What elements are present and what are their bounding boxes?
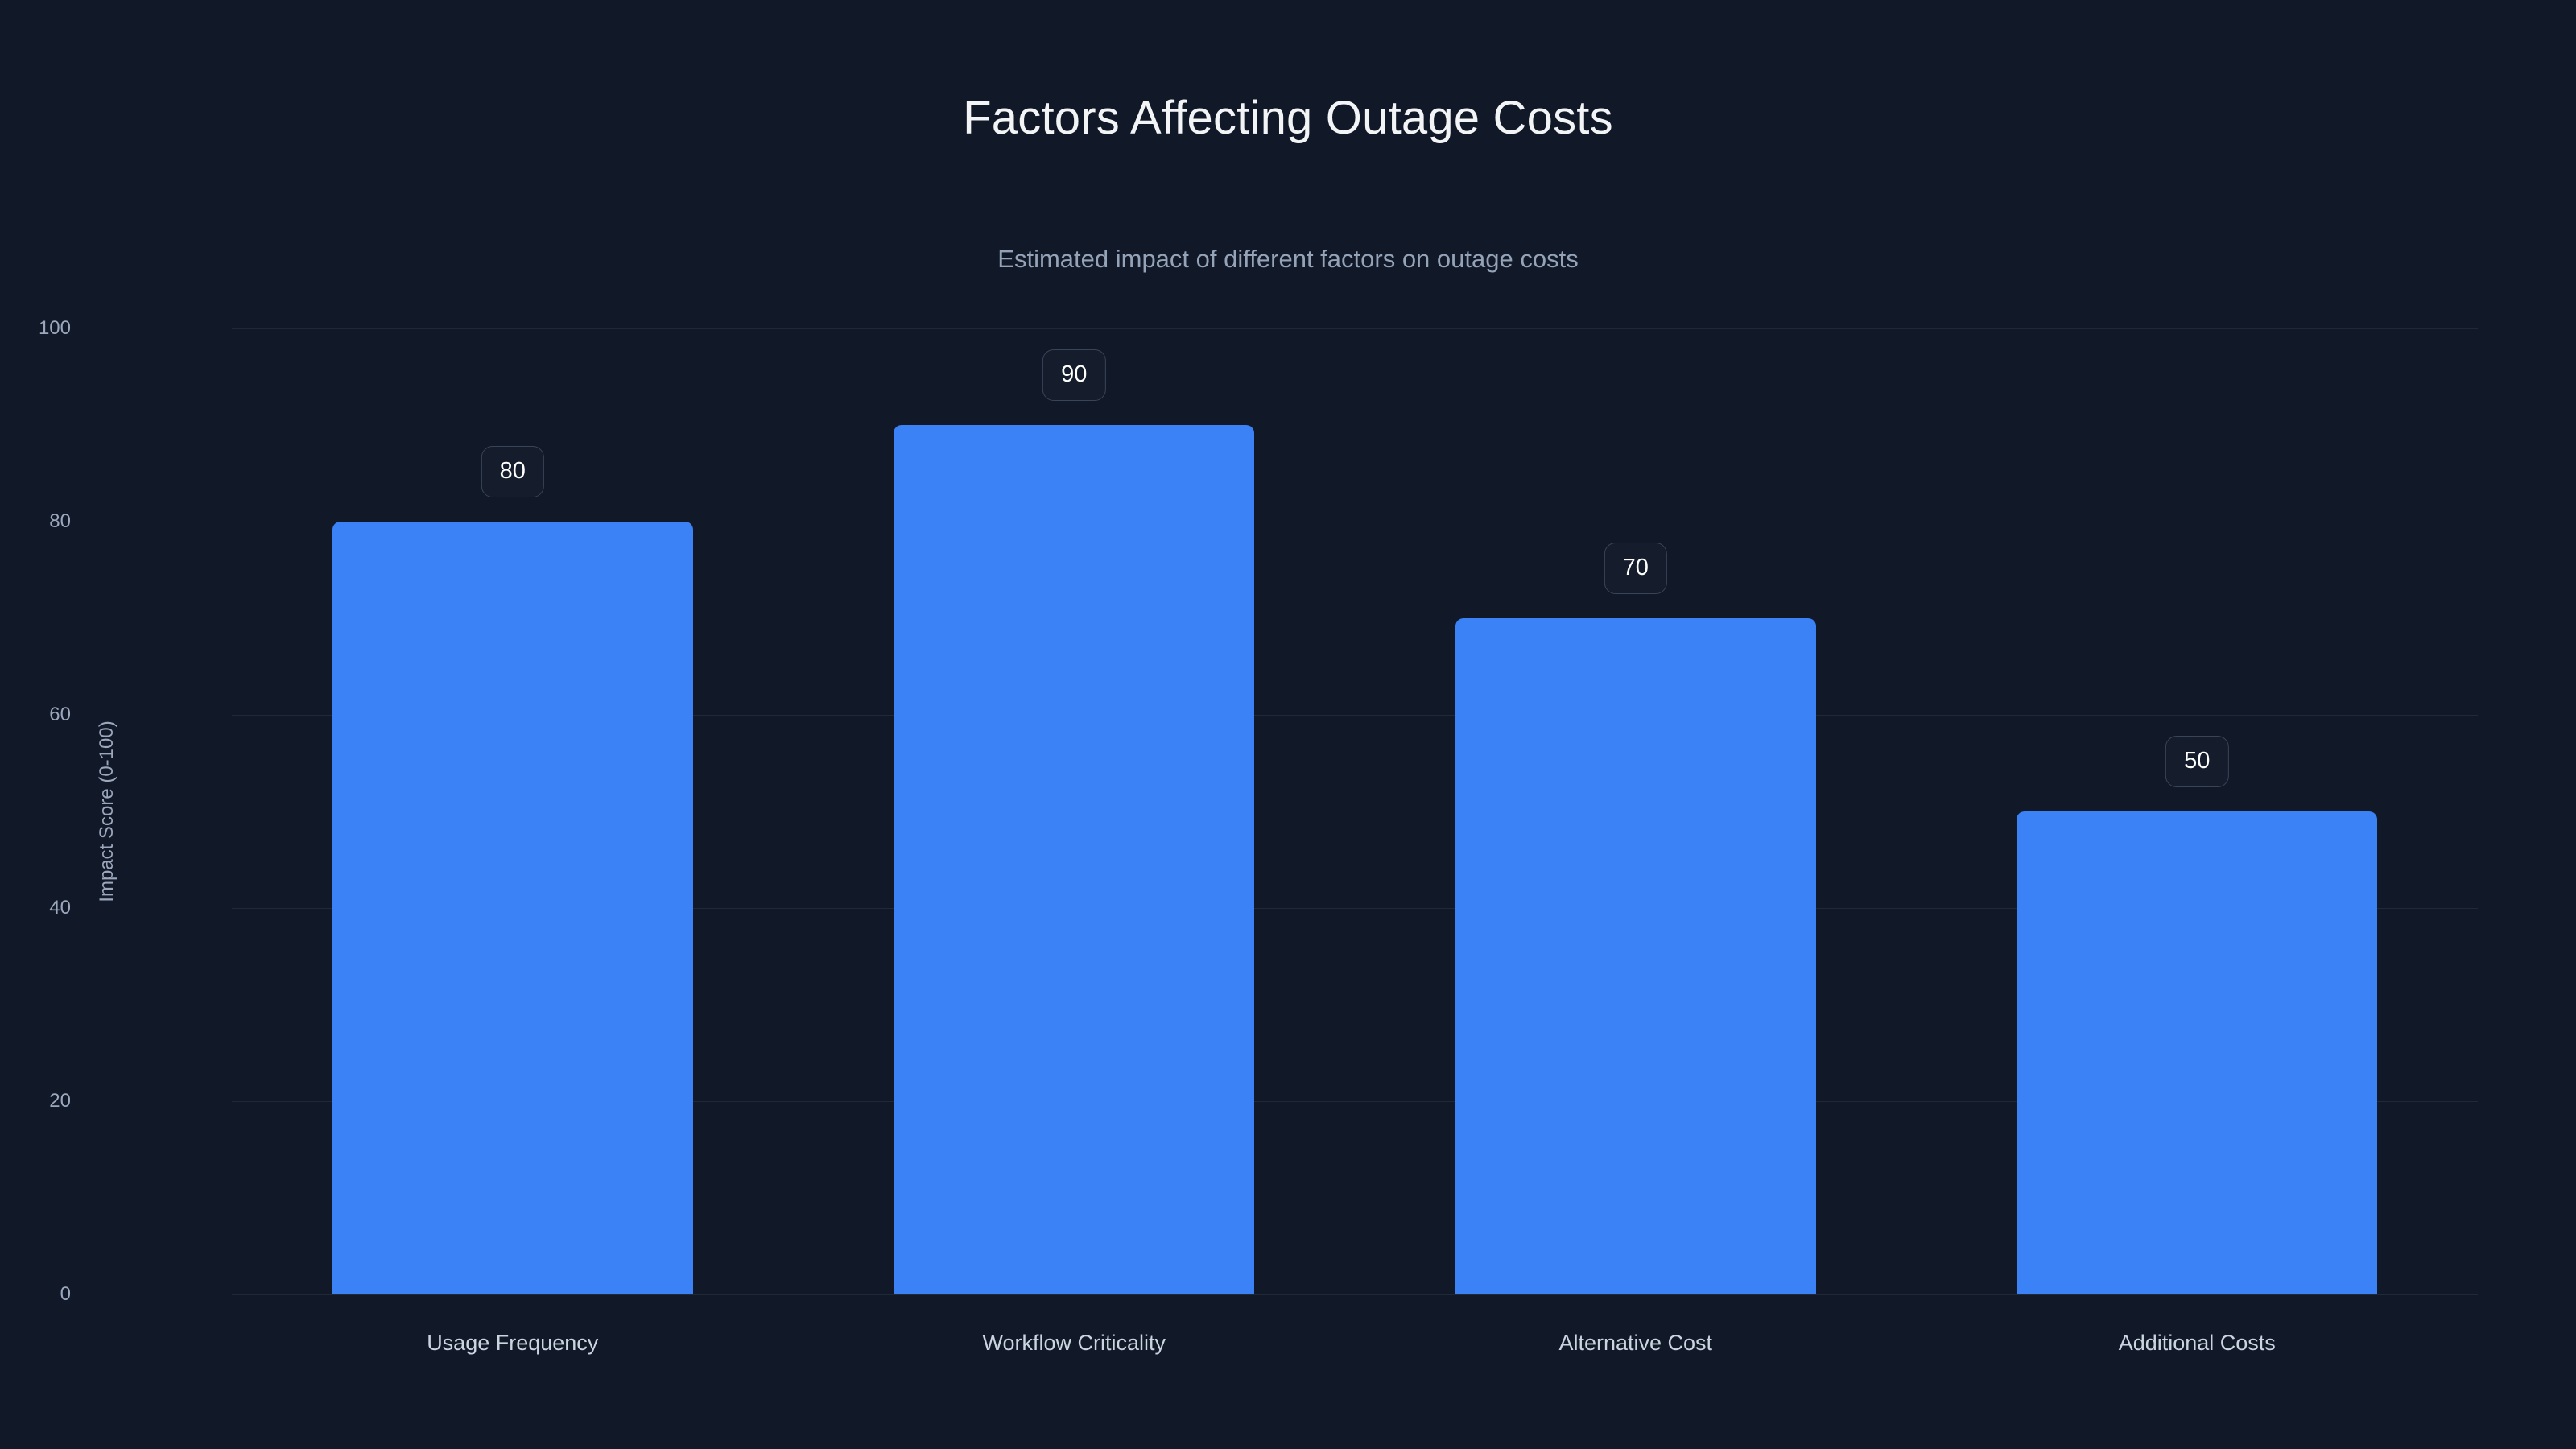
y-axis-tick-label: 20 xyxy=(0,1090,71,1113)
bar[interactable] xyxy=(894,425,1254,1294)
bar-group[interactable]: 50 xyxy=(2017,328,2377,1294)
gridline xyxy=(232,1294,2478,1295)
y-axis-tick-label: 100 xyxy=(0,317,71,340)
bar-group[interactable]: 70 xyxy=(1455,328,1816,1294)
x-axis-category-label: Usage Frequency xyxy=(231,1331,795,1356)
x-axis-category-label: Additional Costs xyxy=(1915,1331,2479,1356)
y-axis-tick-label: 0 xyxy=(0,1283,71,1306)
bar-group[interactable]: 90 xyxy=(894,328,1254,1294)
y-axis-tick-label: 60 xyxy=(0,704,71,726)
bar[interactable] xyxy=(2017,811,2377,1294)
x-axis-category-label: Workflow Criticality xyxy=(792,1331,1356,1356)
y-axis-tick-label: 40 xyxy=(0,897,71,919)
bar-value-badge: 90 xyxy=(1042,349,1105,401)
bar[interactable] xyxy=(332,522,693,1294)
bar-value-badge: 50 xyxy=(2165,736,2228,787)
bar-value-badge: 80 xyxy=(481,446,544,497)
x-axis-category-label: Alternative Cost xyxy=(1354,1331,1918,1356)
y-axis-title: Impact Score (0-100) xyxy=(96,720,118,902)
bar-chart-figure: Factors Affecting Outage Costs Estimated… xyxy=(0,0,2576,1449)
bar-value-badge: 70 xyxy=(1604,543,1667,594)
chart-subtitle: Estimated impact of different factors on… xyxy=(0,244,2576,274)
bars-layer: 80907050 xyxy=(232,328,2478,1294)
bar[interactable] xyxy=(1455,618,1816,1294)
chart-title: Factors Affecting Outage Costs xyxy=(0,93,2576,144)
y-axis-tick-label: 80 xyxy=(0,510,71,533)
bar-group[interactable]: 80 xyxy=(332,328,693,1294)
